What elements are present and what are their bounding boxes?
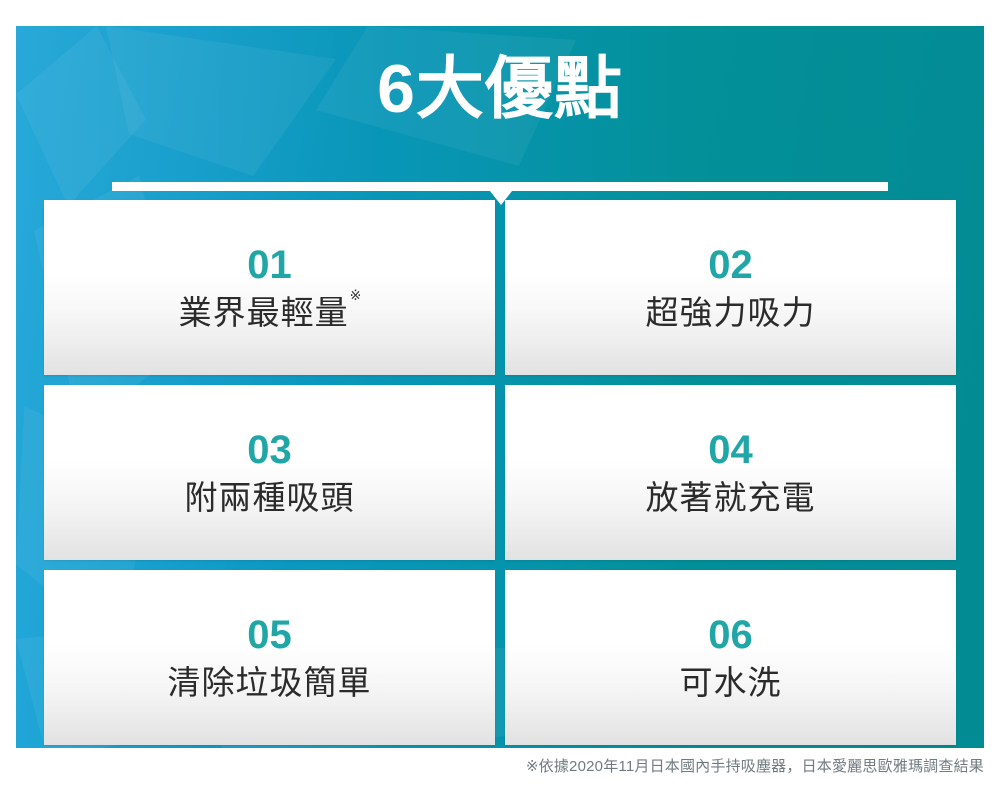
benefit-label-text: 清除垃圾簡單	[168, 664, 372, 701]
promo-panel: 6大優點 01 業界最輕量※ 02 超強力吸力 03 附兩種吸頭 04 放著就充…	[16, 26, 984, 748]
page-title: 6大優點	[16, 48, 984, 130]
benefit-card-01: 01 業界最輕量※	[44, 200, 495, 375]
benefit-card-03: 03 附兩種吸頭	[44, 385, 495, 560]
benefit-label: 清除垃圾簡單	[168, 663, 372, 703]
benefit-label-text: 可水洗	[680, 664, 782, 701]
benefit-label: 業界最輕量※	[179, 293, 361, 333]
footnote-disclaimer: ※依據2020年11月日本國內手持吸塵器，日本愛麗思歐雅瑪調查結果	[0, 757, 984, 777]
title-divider	[112, 182, 888, 191]
benefit-label-text: 超強力吸力	[646, 294, 816, 331]
benefit-number: 05	[247, 613, 292, 657]
promo-header: 6大優點	[16, 26, 984, 200]
benefit-label: 可水洗	[680, 663, 782, 703]
benefit-grid: 01 業界最輕量※ 02 超強力吸力 03 附兩種吸頭 04 放著就充電 05 …	[44, 200, 956, 745]
benefit-number: 06	[708, 613, 753, 657]
benefit-number: 03	[247, 428, 292, 472]
benefit-number: 01	[247, 243, 292, 287]
benefit-label: 放著就充電	[646, 478, 816, 518]
benefit-label-text: 放著就充電	[646, 479, 816, 516]
benefit-card-05: 05 清除垃圾簡單	[44, 570, 495, 745]
benefit-number: 04	[708, 428, 753, 472]
benefit-number: 02	[708, 243, 753, 287]
benefit-footnote-marker: ※	[350, 287, 362, 303]
benefit-card-02: 02 超強力吸力	[505, 200, 956, 375]
benefit-label-text: 業界最輕量	[179, 294, 349, 331]
benefit-card-06: 06 可水洗	[505, 570, 956, 745]
benefit-card-04: 04 放著就充電	[505, 385, 956, 560]
benefit-label: 附兩種吸頭	[185, 478, 355, 518]
benefit-label-text: 附兩種吸頭	[185, 479, 355, 516]
benefit-label: 超強力吸力	[646, 293, 816, 333]
